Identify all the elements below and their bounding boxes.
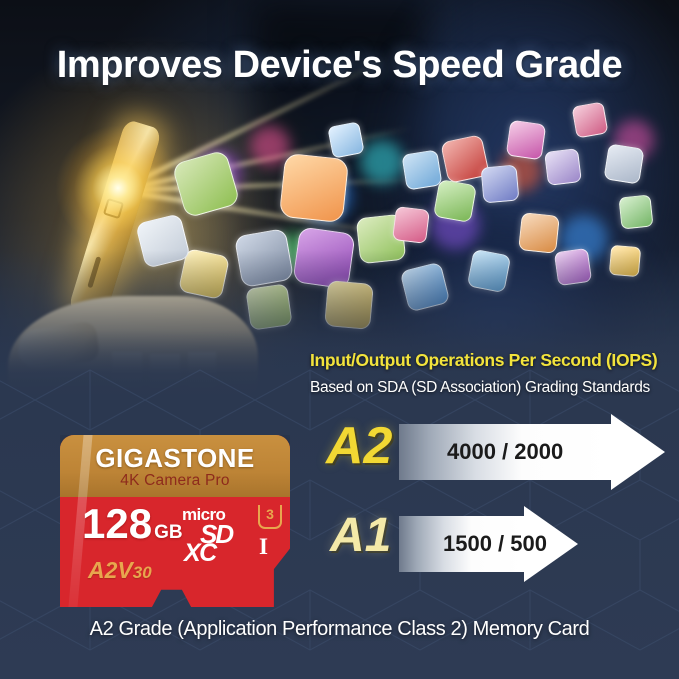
app-tile-icon <box>433 179 477 223</box>
grade-label-a2: A2 <box>326 420 392 472</box>
card-app-class: A2 <box>88 557 117 583</box>
uhs-speed-class-3-icon: 3 <box>258 505 282 529</box>
app-tile-icon <box>618 194 653 229</box>
card-video-class: V <box>117 557 132 583</box>
card-brand-label: GIGASTONE <box>60 443 290 474</box>
card-capacity: 128GB <box>82 503 183 545</box>
app-tile-icon <box>279 153 349 223</box>
card-video-class-number: 30 <box>133 563 152 582</box>
grade-arrow-a1: 1500 / 500 <box>399 516 578 572</box>
iops-subheading: Based on SDA (SD Association) Grading St… <box>310 379 679 397</box>
card-capacity-unit: GB <box>154 522 183 543</box>
logo-xc-text: XC <box>184 539 216 568</box>
app-tile-icon <box>327 121 365 159</box>
grade-value-a2: 4000 / 2000 <box>447 424 563 480</box>
card-series-label: 4K Camera Pro <box>60 472 290 490</box>
bokeh-blob <box>360 140 404 184</box>
microsd-card: GIGASTONE 4K Camera Pro 128GB A2V30 micr… <box>60 435 290 607</box>
app-tile-icon <box>603 143 644 184</box>
uhs-bus-interface-1-icon: I <box>259 534 268 560</box>
app-tile-icon <box>480 164 519 203</box>
app-tile-icon <box>506 120 547 161</box>
card-class-badges: A2V30 <box>88 559 152 582</box>
bottom-caption: A2 Grade (Application Performance Class … <box>0 618 679 641</box>
app-tile-icon <box>571 101 608 138</box>
product-feature-banner: Improves Device's Speed Grade Input/Outp… <box>0 0 679 679</box>
microsdxc-logo-icon: micro SD XC <box>182 505 254 563</box>
arrow-head-icon <box>611 414 665 490</box>
app-tile-icon <box>518 212 560 254</box>
grade-arrow-a2: 4000 / 2000 <box>399 424 665 480</box>
grade-label-a1: A1 <box>330 512 391 560</box>
app-tile-icon <box>401 149 442 190</box>
card-capacity-number: 128 <box>82 500 152 547</box>
app-tile-icon <box>544 148 582 186</box>
bokeh-blob <box>250 126 290 166</box>
app-tile-icon <box>392 206 430 244</box>
grade-value-a1: 1500 / 500 <box>443 516 547 572</box>
iops-heading: Input/Output Operations Per Second (IOPS… <box>310 350 670 371</box>
page-title: Improves Device's Speed Grade <box>0 44 679 87</box>
